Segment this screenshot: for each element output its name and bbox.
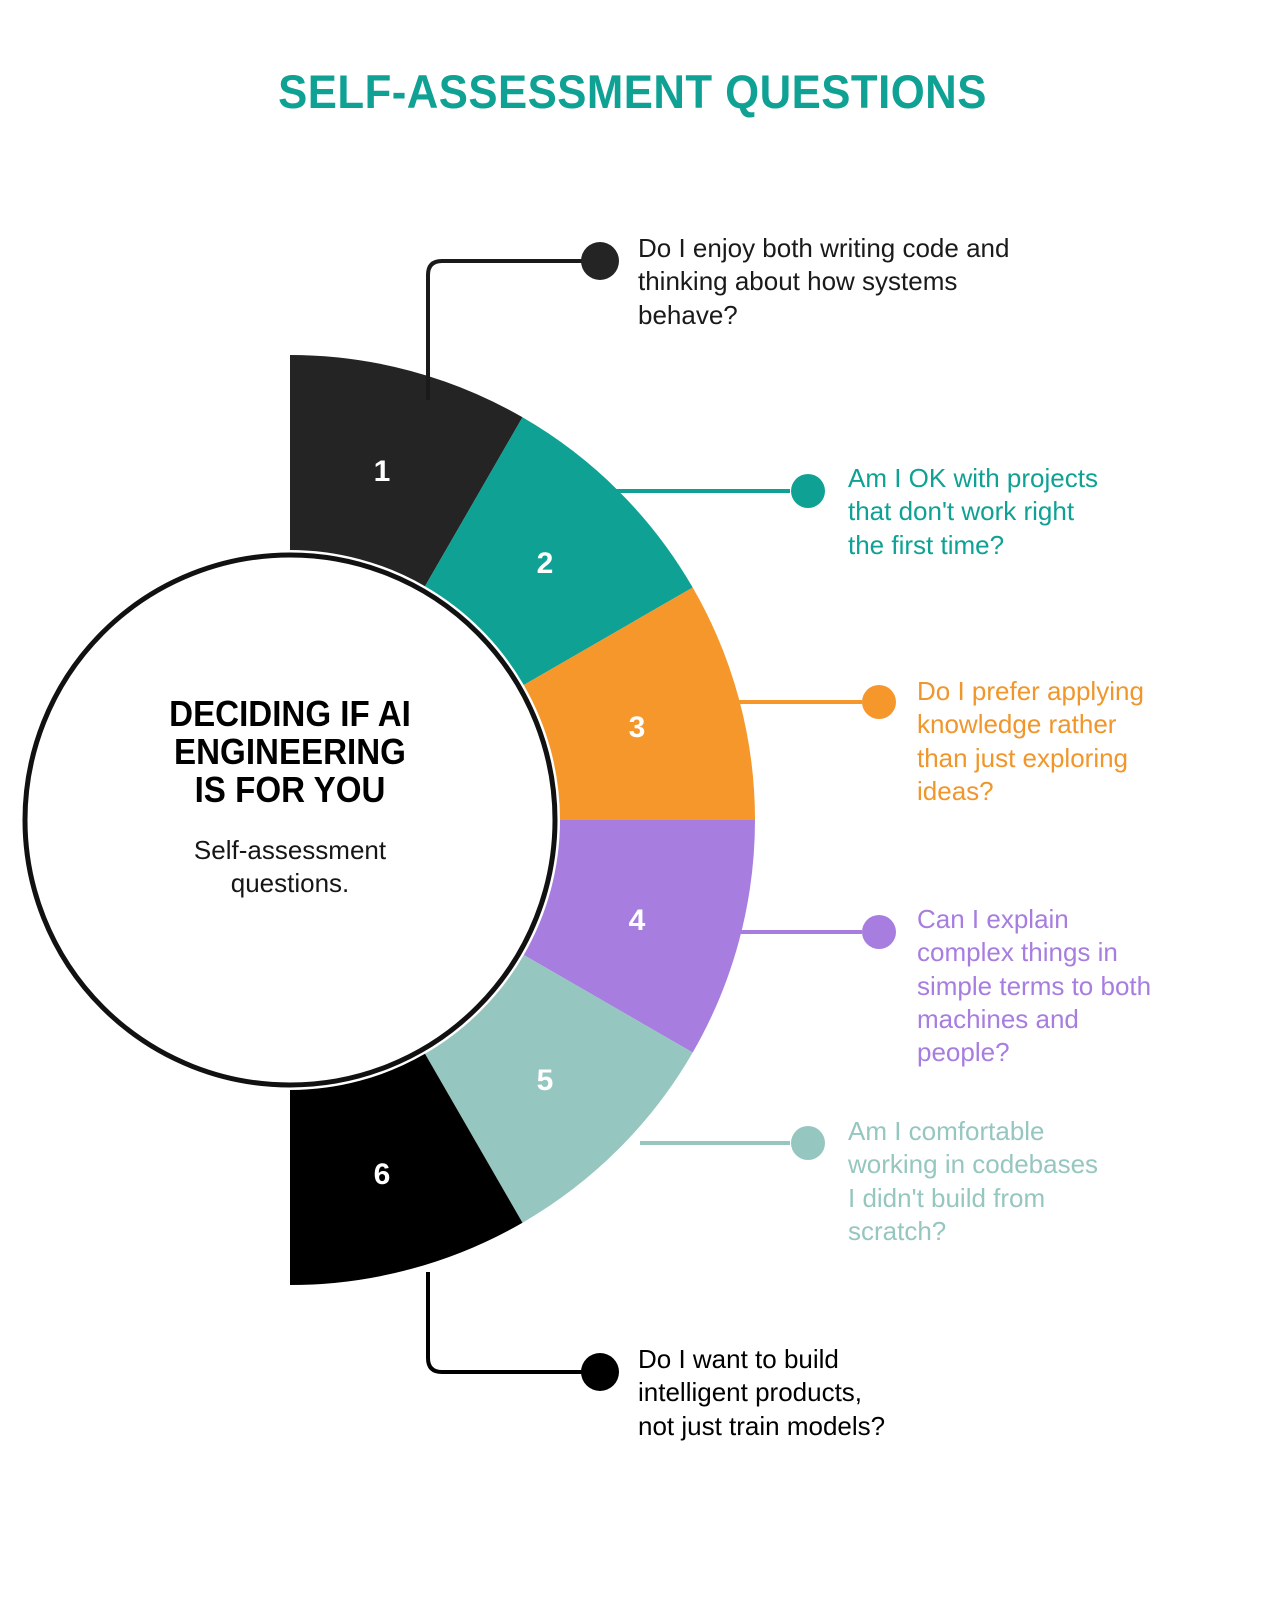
- center-disc: [25, 555, 555, 1085]
- segment-number-6: 6: [374, 1158, 391, 1191]
- connector-dot-3: [862, 685, 896, 719]
- infographic-canvas: SELF-ASSESSMENT QUESTIONS 1 2 3 4 5 6: [0, 0, 1265, 1600]
- connector-dot-2: [791, 474, 825, 508]
- connector-dot-4: [862, 915, 896, 949]
- question-label-6: Do I want to build intelligent products,…: [638, 1343, 978, 1443]
- question-label-3: Do I prefer applying knowledge rather th…: [917, 675, 1187, 808]
- segment-number-2: 2: [537, 547, 554, 580]
- question-label-1: Do I enjoy both writing code and thinkin…: [638, 232, 1078, 332]
- question-label-4: Can I explain complex things in simple t…: [917, 903, 1195, 1069]
- question-label-2: Am I OK with projects that don't work ri…: [848, 462, 1178, 562]
- connector-line-1: [428, 261, 585, 400]
- connector-dot-5: [791, 1126, 825, 1160]
- connector-dot-1: [581, 242, 619, 280]
- segment-number-4: 4: [629, 904, 646, 937]
- connector-line-6: [428, 1272, 585, 1372]
- connector-dot-6: [581, 1353, 619, 1391]
- question-label-5: Am I comfortable working in codebases I …: [848, 1115, 1148, 1248]
- segment-number-5: 5: [537, 1064, 554, 1097]
- segment-number-1: 1: [374, 455, 391, 488]
- segment-number-3: 3: [629, 711, 646, 744]
